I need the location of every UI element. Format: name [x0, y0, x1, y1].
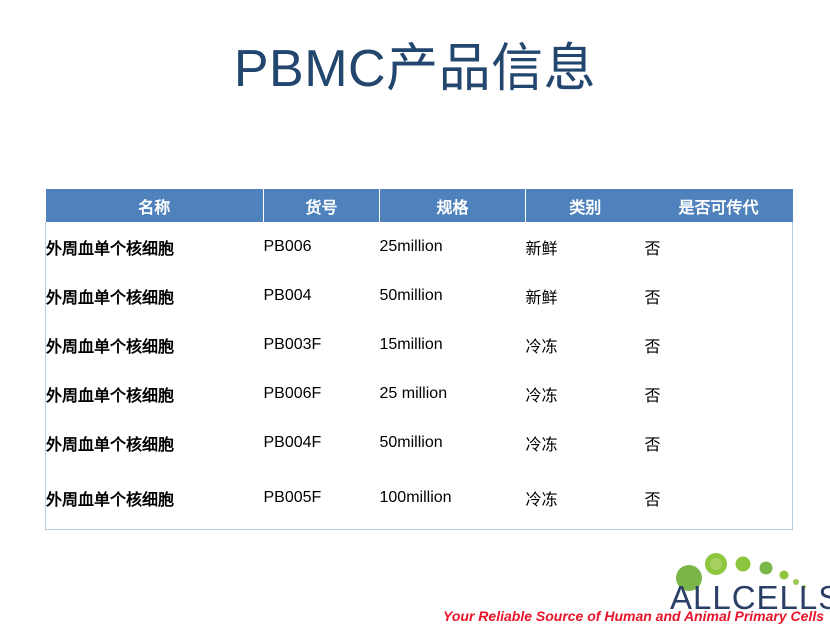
- table-row: 外周血单个核细胞 PB003F 15million 冷冻 否: [46, 320, 793, 369]
- cell-name: 外周血单个核细胞: [46, 320, 264, 369]
- cell-passage: 否: [645, 467, 793, 529]
- cell-spec: 25million: [380, 222, 526, 271]
- cell-code: PB004F: [264, 418, 380, 467]
- cell-category: 冷冻: [526, 467, 645, 529]
- allcells-logo: ALLCELLS: [668, 551, 826, 611]
- cell-category: 冷冻: [526, 418, 645, 467]
- cell-passage: 否: [645, 271, 793, 320]
- cell-name: 外周血单个核细胞: [46, 418, 264, 467]
- brand-tagline: Your Reliable Source of Human and Animal…: [0, 608, 830, 624]
- cell-spec: 100million: [380, 467, 526, 529]
- cell-category: 新鲜: [526, 222, 645, 271]
- cell-code: PB004: [264, 271, 380, 320]
- column-header-passage[interactable]: 是否可传代: [645, 189, 793, 222]
- table-row: 外周血单个核细胞 PB006F 25 million 冷冻 否: [46, 369, 793, 418]
- cell-category: 冷冻: [526, 369, 645, 418]
- cell-name: 外周血单个核细胞: [46, 467, 264, 529]
- product-table: 名称 货号 规格 类别 是否可传代 外周血单个核细胞 PB006 25milli…: [45, 189, 793, 530]
- cell-code: PB003F: [264, 320, 380, 369]
- table-body: 外周血单个核细胞 PB006 25million 新鲜 否 外周血单个核细胞 P…: [46, 222, 793, 529]
- table-row: 外周血单个核细胞 PB004F 50million 冷冻 否: [46, 418, 793, 467]
- column-header-name[interactable]: 名称: [46, 189, 264, 222]
- table-header-row: 名称 货号 规格 类别 是否可传代: [46, 189, 793, 222]
- cell-passage: 否: [645, 418, 793, 467]
- cell-name: 外周血单个核细胞: [46, 369, 264, 418]
- cell-spec: 50million: [380, 418, 526, 467]
- cell-spec: 50million: [380, 271, 526, 320]
- cell-spec: 15million: [380, 320, 526, 369]
- cell-passage: 否: [645, 222, 793, 271]
- cell-spec: 25 million: [380, 369, 526, 418]
- page-title: PBMC产品信息: [0, 38, 830, 100]
- cell-name: 外周血单个核细胞: [46, 222, 264, 271]
- table-row: 外周血单个核细胞 PB005F 100million 冷冻 否: [46, 467, 793, 529]
- cell-passage: 否: [645, 369, 793, 418]
- cell-code: PB006: [264, 222, 380, 271]
- cell-code: PB006F: [264, 369, 380, 418]
- table-row: 外周血单个核细胞 PB004 50million 新鲜 否: [46, 271, 793, 320]
- cell-code: PB005F: [264, 467, 380, 529]
- cell-category: 冷冻: [526, 320, 645, 369]
- table-row: 外周血单个核细胞 PB006 25million 新鲜 否: [46, 222, 793, 271]
- table-header: 名称 货号 规格 类别 是否可传代: [46, 189, 793, 222]
- cell-passage: 否: [645, 320, 793, 369]
- column-header-category[interactable]: 类别: [526, 189, 645, 222]
- column-header-code[interactable]: 货号: [264, 189, 380, 222]
- column-header-spec[interactable]: 规格: [380, 189, 526, 222]
- cell-name: 外周血单个核细胞: [46, 271, 264, 320]
- cell-category: 新鲜: [526, 271, 645, 320]
